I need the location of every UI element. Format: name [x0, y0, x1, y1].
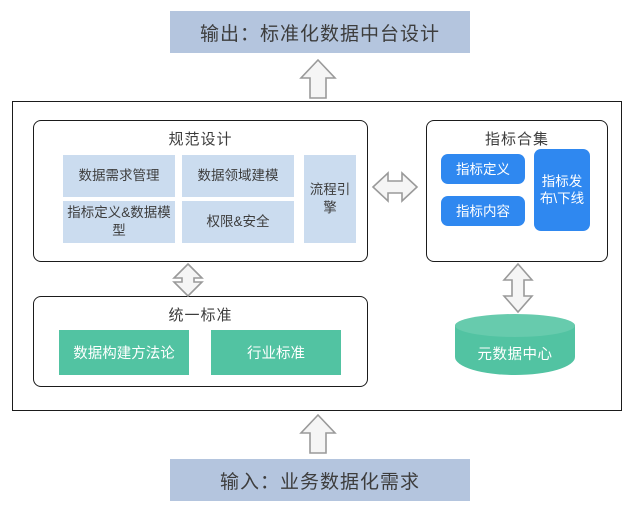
cell-data-demand-management[interactable]: 数据需求管理 — [63, 155, 175, 197]
cell-process-engine[interactable]: 流程引擎 — [304, 155, 356, 243]
panel-metrics-collection: 指标合集 指标定义 指标内容 指标发布\下线 — [426, 120, 608, 262]
panel-unified-standard: 统一标准 数据构建方法论 行业标准 — [33, 296, 368, 387]
metadata-center-label: 元数据中心 — [455, 336, 575, 370]
panel-spec-design: 规范设计 数据需求管理 数据领域建模 指标定义&数据模型 权限&安全 流程引擎 — [33, 120, 368, 262]
cell-data-domain-modeling[interactable]: 数据领域建模 — [182, 155, 294, 197]
cell-metric-content[interactable]: 指标内容 — [441, 196, 525, 226]
arrow-up-down-spec-standard-icon — [171, 262, 205, 298]
panel-spec-design-title: 规范设计 — [34, 128, 367, 149]
output-banner: 输出：标准化数据中台设计 — [170, 11, 470, 53]
metadata-center-cylinder[interactable]: 元数据中心 — [455, 314, 575, 382]
panel-metrics-collection-title: 指标合集 — [427, 128, 607, 149]
panel-unified-standard-title: 统一标准 — [34, 304, 367, 325]
cylinder-top-ellipse — [455, 314, 575, 337]
arrow-up-from-input-icon — [299, 413, 337, 455]
cell-data-construction-methodology[interactable]: 数据构建方法论 — [59, 330, 189, 375]
cell-industry-standard[interactable]: 行业标准 — [211, 330, 341, 375]
cell-index-definition-data-model[interactable]: 指标定义&数据模型 — [63, 201, 175, 243]
arrow-up-to-output-icon — [299, 58, 337, 100]
cell-metric-definition[interactable]: 指标定义 — [441, 154, 525, 184]
arrow-up-down-metrics-metadata-icon — [501, 262, 535, 314]
input-banner: 输入：业务数据化需求 — [170, 459, 470, 501]
arrow-left-right-spec-metrics-icon — [371, 170, 419, 204]
cell-metric-publish-offline[interactable]: 指标发布\下线 — [534, 149, 590, 231]
cell-permission-security[interactable]: 权限&安全 — [182, 201, 294, 243]
